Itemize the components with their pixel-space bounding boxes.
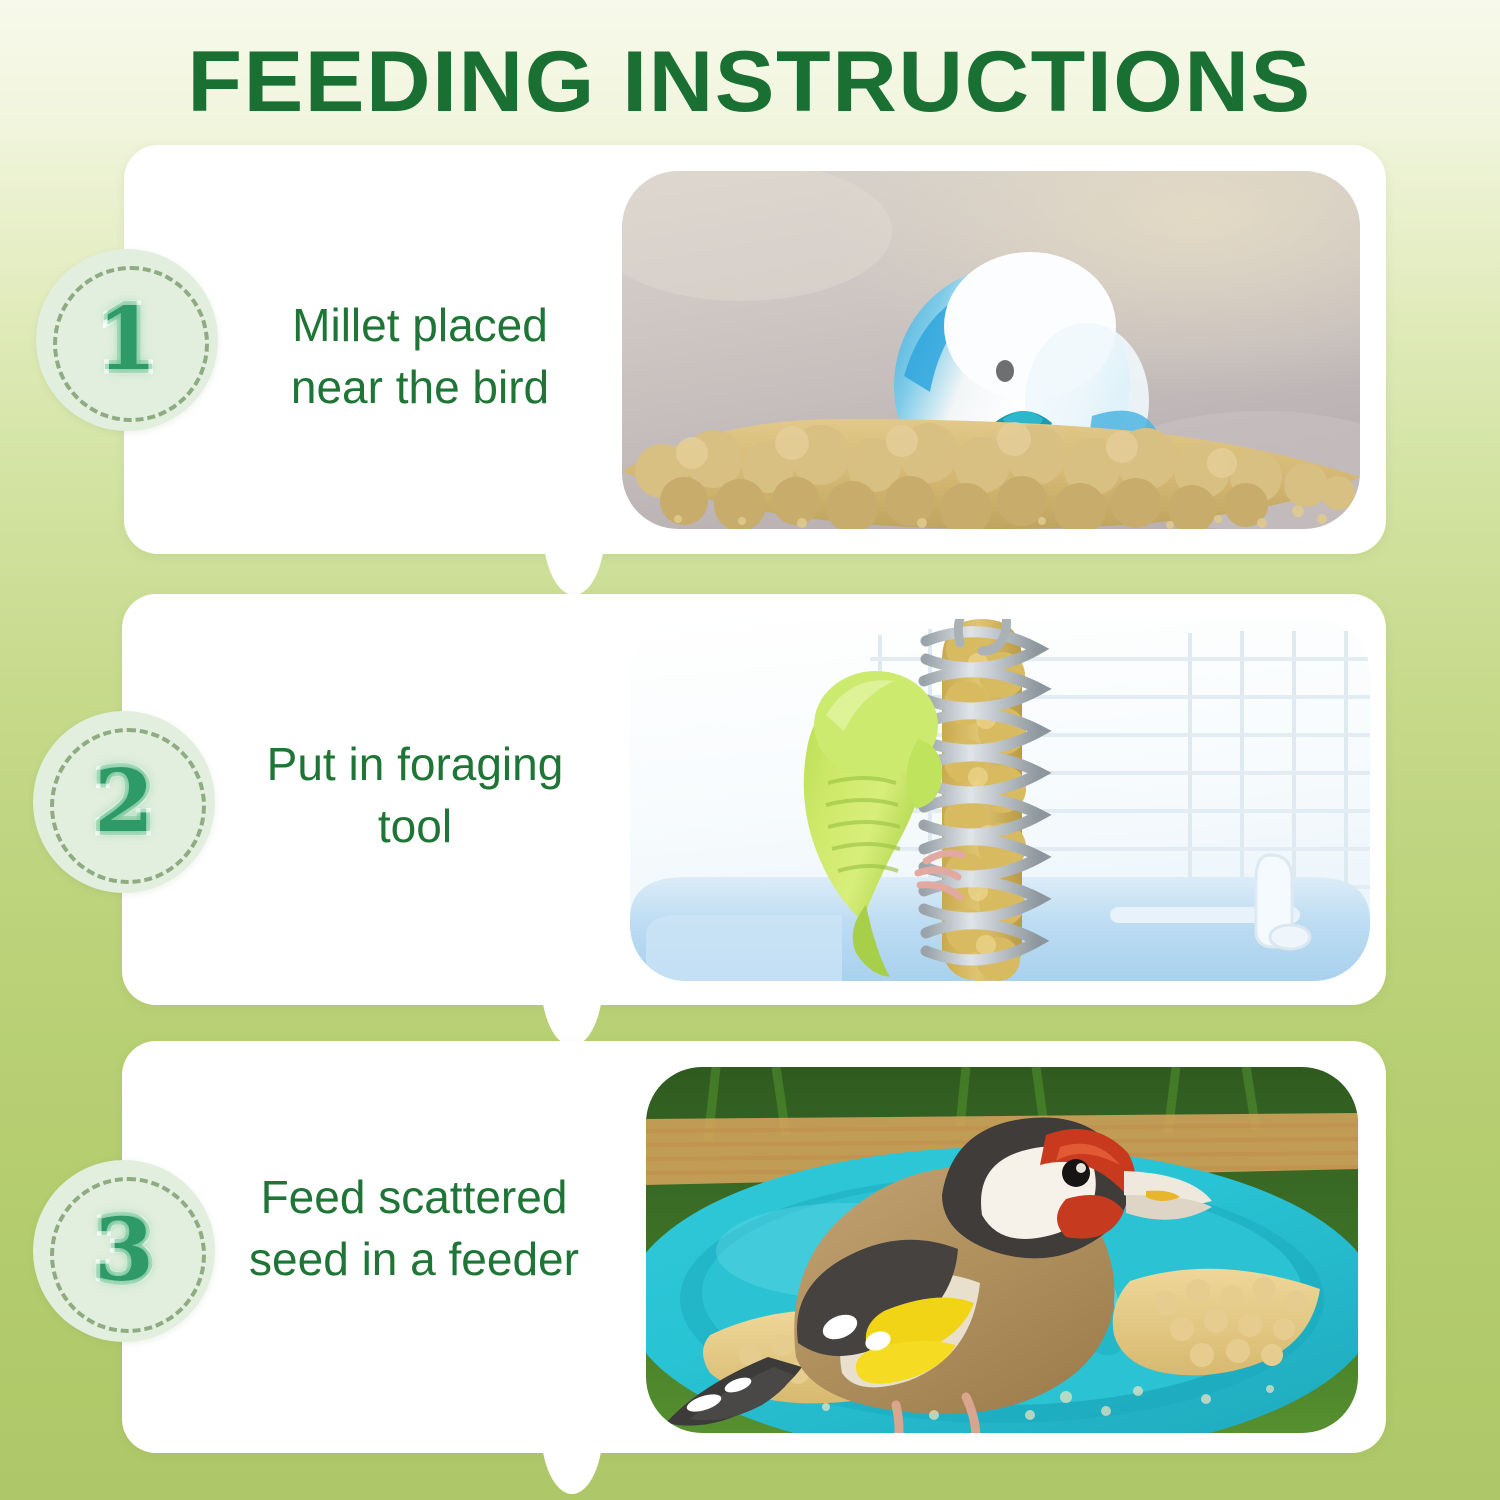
budgie-millet-illustration bbox=[622, 171, 1360, 529]
step-caption-2: Put in foraging tool bbox=[240, 733, 590, 857]
step-number-2: 2 bbox=[33, 711, 215, 893]
foraging-tool-illustration bbox=[630, 619, 1370, 981]
step-badge-3: 3 bbox=[33, 1160, 215, 1342]
step-badge-2: 2 bbox=[33, 711, 215, 893]
step-caption-2-line-2: tool bbox=[240, 795, 590, 857]
step-number-3: 3 bbox=[33, 1160, 215, 1342]
step-caption-1-line-2: near the bird bbox=[250, 356, 590, 418]
step-number-1: 1 bbox=[36, 249, 218, 431]
step-caption-3-line-1: Feed scattered bbox=[214, 1166, 614, 1228]
card-tail-3 bbox=[532, 1450, 612, 1500]
step-caption-1: Millet placed near the bird bbox=[250, 294, 590, 418]
feeding-instructions-poster: FEEDING INSTRUCTIONS bbox=[0, 0, 1500, 1500]
step-photo-2 bbox=[630, 619, 1370, 981]
page-title: FEEDING INSTRUCTIONS bbox=[0, 34, 1500, 130]
step-caption-2-line-1: Put in foraging bbox=[240, 733, 590, 795]
step-caption-3-line-2: seed in a feeder bbox=[214, 1228, 614, 1290]
goldfinch-feeder-illustration bbox=[646, 1067, 1358, 1433]
step-caption-3: Feed scattered seed in a feeder bbox=[214, 1166, 614, 1290]
page-title-text: FEEDING INSTRUCTIONS bbox=[188, 34, 1312, 130]
step-caption-1-line-1: Millet placed bbox=[250, 294, 590, 356]
step-photo-1 bbox=[622, 171, 1360, 529]
step-photo-3 bbox=[646, 1067, 1358, 1433]
step-badge-1: 1 bbox=[36, 249, 218, 431]
